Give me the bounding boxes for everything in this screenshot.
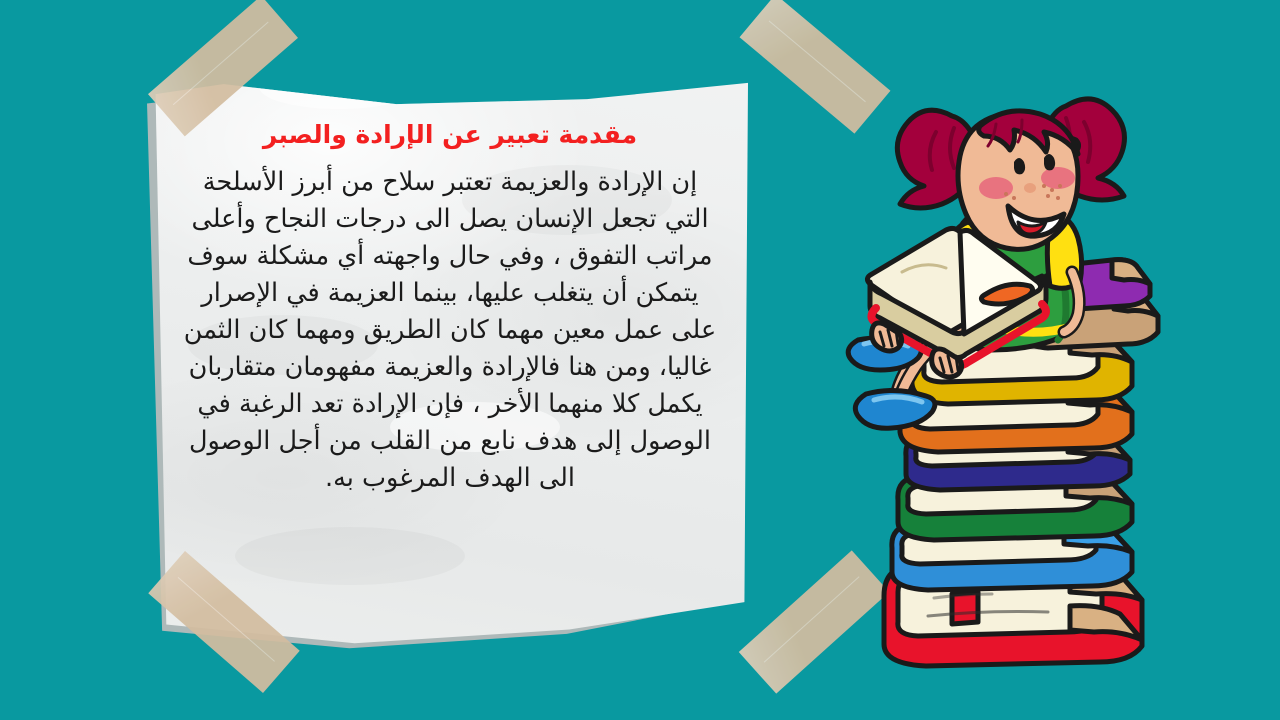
illustration-girl-reading [840, 40, 1170, 700]
paper-note: مقدمة تعبير عن الإرادة والصبر إن الإرادة… [140, 28, 748, 658]
page-title: مقدمة تعبير عن الإرادة والصبر [178, 120, 722, 150]
cheek-right [1041, 167, 1075, 189]
body-paragraph: إن الإرادة والعزيمة تعتبر سلاح من أبرز ا… [178, 164, 722, 497]
paper-text-area: مقدمة تعبير عن الإرادة والصبر إن الإرادة… [152, 28, 748, 652]
cheek-left [979, 177, 1013, 199]
nose [1024, 183, 1036, 193]
slide-canvas: مقدمة تعبير عن الإرادة والصبر إن الإرادة… [0, 0, 1280, 720]
girl-reading-on-books-svg [840, 40, 1170, 700]
